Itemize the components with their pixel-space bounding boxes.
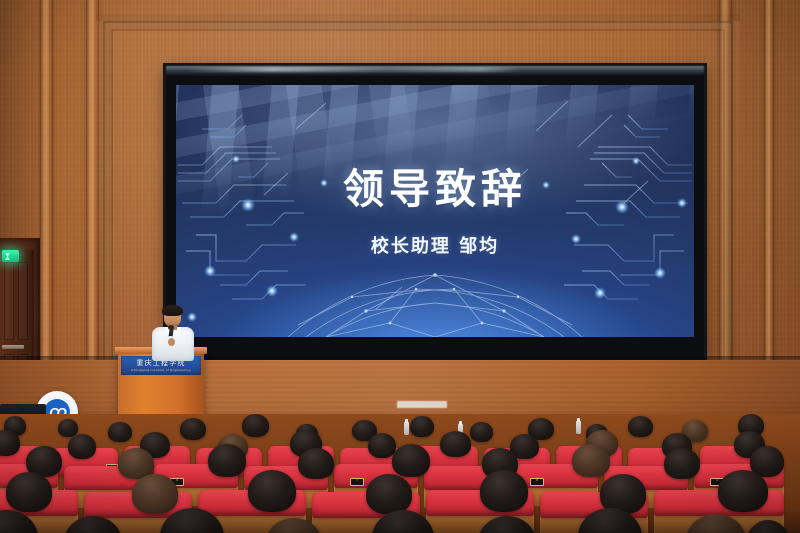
audience-head	[410, 416, 434, 437]
seat-number: 8	[530, 478, 544, 486]
audience-head	[108, 422, 132, 442]
audience-head	[6, 472, 52, 512]
audience-head	[180, 418, 206, 440]
door-handle[interactable]	[2, 345, 24, 349]
seat-number: 7	[350, 478, 364, 486]
water-bottle	[576, 421, 581, 434]
led-wall-screen: 领导致辞 校长助理 邹均	[166, 66, 704, 359]
auditorium-photo: 领导致辞 校长助理 邹均 重庆工程学院 Chongqing Institute …	[0, 0, 800, 533]
emergency-exit-sign	[2, 250, 19, 262]
slide-subtitle: 校长助理 邹均	[371, 232, 499, 258]
audience-head	[208, 444, 246, 477]
bezel-glare-highlight	[188, 67, 522, 72]
audience-head	[248, 470, 296, 512]
audience-head	[68, 434, 96, 459]
audience-head	[664, 448, 700, 479]
slide-text-block: 领导致辞 校长助理 邹均	[176, 85, 694, 337]
audience-head	[366, 474, 412, 514]
slide-title: 领导致辞	[343, 169, 527, 210]
presenter	[148, 304, 198, 360]
lectern-banner-en: Chongqing Institute of Engineering	[131, 369, 191, 372]
audience-head	[132, 474, 178, 514]
paper-sheet	[397, 401, 447, 408]
audience-head	[392, 444, 430, 477]
slide-surface: 领导致辞 校长助理 邹均	[176, 85, 694, 337]
water-bottle	[404, 422, 409, 435]
audience-head	[628, 416, 653, 437]
audience-head	[480, 470, 528, 512]
audience-head	[440, 431, 471, 457]
audience-head	[298, 448, 334, 479]
presenter-hand	[168, 338, 175, 346]
audience-head	[718, 470, 768, 512]
microphone-head	[168, 325, 174, 330]
audience-head	[470, 422, 493, 442]
presenter-hair	[162, 305, 183, 316]
audience-head	[242, 414, 269, 437]
audience-area: 1 2 3 4 5	[0, 414, 800, 533]
audience-head	[368, 433, 396, 458]
audience-head	[572, 444, 610, 477]
